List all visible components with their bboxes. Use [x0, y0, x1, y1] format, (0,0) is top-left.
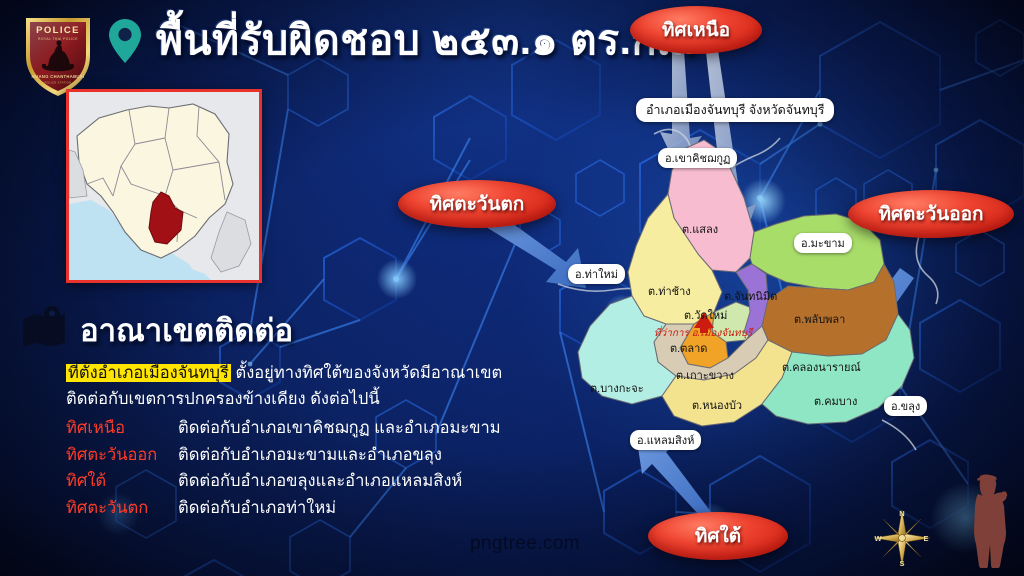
section-heading-row: อาณาเขตติดต่อ — [22, 306, 293, 346]
label-khlong-narai: ต.คลองนารายณ์ — [782, 358, 861, 376]
watermark: pngtree.com — [470, 533, 580, 555]
label-salaeng: ต.แสลง — [682, 220, 718, 238]
callout-east-label: ทิศตะวันออก — [878, 199, 983, 229]
callout-west-label: ทิศตะวันตก — [430, 189, 525, 219]
svg-text:ROYAL THAI POLICE: ROYAL THAI POLICE — [38, 37, 78, 41]
district-map: ต.แสลง ต.ท่าช้าง ต.จันทนิมิต ต.วัดใหม่ ต… — [536, 86, 1024, 486]
compass-rose-icon: N E S W — [872, 508, 932, 568]
label-khao-khitchakut: อ.เขาคิชฌกูฏ — [658, 148, 737, 168]
police-badge-logo: POLICE ROYAL THAI POLICE MUANG CHANTHABU… — [18, 8, 98, 100]
label-tha-chang: ต.ท่าช้าง — [648, 282, 691, 300]
direction-key: ทิศเหนือ — [66, 415, 178, 442]
label-tha-mai: อ.ท่าใหม่ — [568, 264, 625, 284]
svg-text:MUANG CHANTHABURI: MUANG CHANTHABURI — [31, 74, 84, 79]
direction-row: ทิศใต้ ติดต่อกับอำเภอขลุงและอำเภอแหลมสิง… — [66, 468, 536, 495]
direction-value: ติดต่อกับอำเภอท่าใหม่ — [178, 495, 336, 522]
compass-w-label: W — [874, 534, 882, 543]
intro-highlight: ที่ตั้งอำเภอเมืองจันทบุรี — [66, 364, 231, 382]
label-ko-khwang: ต.เกาะขวาง — [676, 366, 734, 384]
saluting-officer-silhouette — [958, 472, 1016, 568]
callout-north-label: ทิศเหนือ — [662, 15, 730, 45]
intro-line-2: ติดต่อกับเขตการปกครองข้างเคียง ดังต่อไปน… — [66, 386, 536, 412]
direction-key: ทิศใต้ — [66, 468, 178, 495]
section-title: อาณาเขตติดต่อ — [80, 315, 293, 346]
label-wat-mai: ต.วัดใหม่ — [684, 306, 727, 324]
page-title: พื้นที่รับผิดชอบ ๒๕๓.๑ ตร.กม. — [156, 19, 696, 62]
label-talat: ต.ตลาด — [670, 339, 707, 357]
district-office-label: ที่ว่าการ อ.เมืองจันทบุรี — [654, 326, 752, 341]
callout-north[interactable]: ทิศเหนือ — [630, 6, 762, 54]
direction-row: ทิศเหนือ ติดต่อกับอำเภอเขาคิชฌกูฏ และอำเ… — [66, 415, 536, 442]
direction-row: ทิศตะวันตก ติดต่อกับอำเภอท่าใหม่ — [66, 495, 536, 522]
callout-south[interactable]: ทิศใต้ — [648, 512, 788, 560]
label-phlapphla: ต.พลับพลา — [794, 310, 845, 328]
compass-e-label: E — [923, 534, 928, 543]
intro-rest: ตั้งอยู่ทางทิศใต้ของจังหวัดมีอาณาเขต — [231, 364, 502, 382]
direction-key: ทิศตะวันออก — [66, 442, 178, 469]
slide-root: POLICE ROYAL THAI POLICE MUANG CHANTHABU… — [0, 0, 1024, 576]
callout-south-label: ทิศใต้ — [695, 521, 741, 551]
label-bang-kacha: ต.บางกะจะ — [590, 379, 644, 397]
label-khemmabang: ต.คมบาง — [814, 392, 857, 410]
intro-line-1: ที่ตั้งอำเภอเมืองจันทบุรี ตั้งอยู่ทางทิศ… — [66, 360, 536, 386]
map-header-label: อำเภอเมืองจันทบุรี จังหวัดจันทบุรี — [636, 98, 834, 122]
province-inset-map — [66, 89, 262, 283]
compass-s-label: S — [899, 559, 904, 568]
folded-map-pin-icon — [22, 306, 68, 346]
boundary-description: ที่ตั้งอำเภอเมืองจันทบุรี ตั้งอยู่ทางทิศ… — [66, 360, 536, 522]
direction-value: ติดต่อกับอำเภอเขาคิชฌกูฏ และอำเภอมะขาม — [178, 415, 501, 442]
direction-row: ทิศตะวันออก ติดต่อกับอำเภอมะขามและอำเภอข… — [66, 442, 536, 469]
label-nong-bua: ต.หนองบัว — [692, 396, 742, 414]
label-khlung: อ.ขลุง — [884, 396, 927, 416]
title-row: พื้นที่รับผิดชอบ ๒๕๓.๑ ตร.กม. — [108, 18, 696, 64]
svg-text:POLICE STATION: POLICE STATION — [45, 81, 72, 85]
label-makham: อ.มะขาม — [794, 233, 852, 253]
callout-east[interactable]: ทิศตะวันออก — [848, 190, 1014, 238]
map-pin-icon — [108, 18, 142, 64]
callout-west[interactable]: ทิศตะวันตก — [398, 180, 556, 228]
direction-value: ติดต่อกับอำเภอมะขามและอำเภอขลุง — [178, 442, 442, 469]
direction-key: ทิศตะวันตก — [66, 495, 178, 522]
compass-n-label: N — [899, 509, 904, 518]
direction-table: ทิศเหนือ ติดต่อกับอำเภอเขาคิชฌกูฏ และอำเ… — [66, 415, 536, 522]
svg-text:POLICE: POLICE — [36, 25, 80, 36]
label-laem-sing: อ.แหลมสิงห์ — [630, 430, 701, 450]
label-chanthanimit: ต.จันทนิมิต — [724, 287, 777, 305]
direction-value: ติดต่อกับอำเภอขลุงและอำเภอแหลมสิงห์ — [178, 468, 462, 495]
